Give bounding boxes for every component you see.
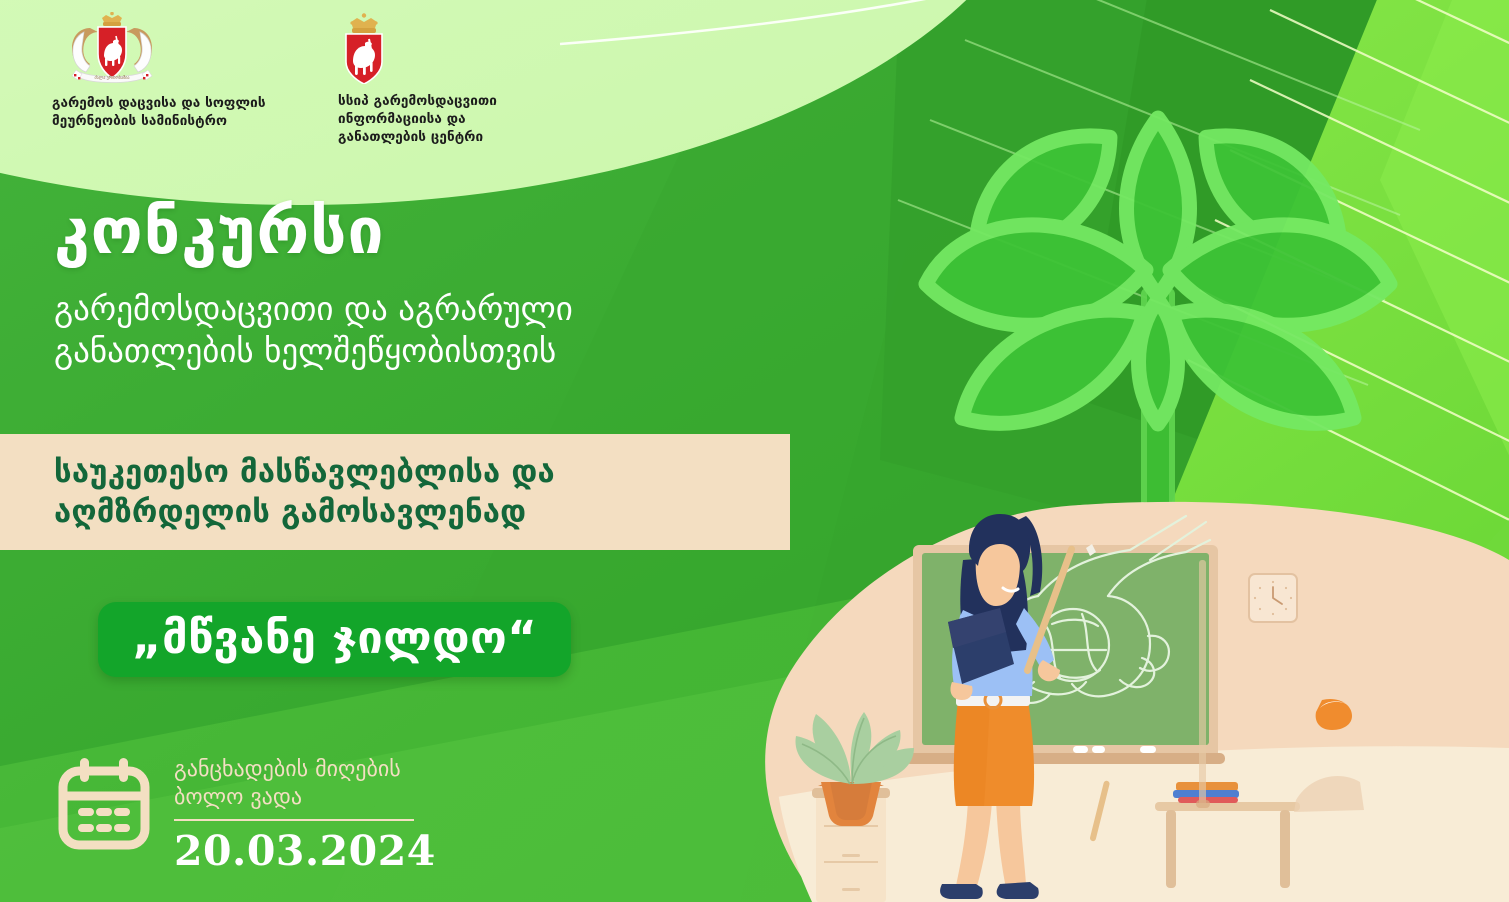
headline-block: კონკურსი გარემოსდაცვითი და აგრარული განა… — [54, 200, 573, 372]
award-name-text: „მწვანე ჯილდო“ — [132, 614, 537, 661]
calendar-icon — [56, 756, 152, 852]
page-subtitle: გარემოსდაცვითი და აგრარული განათლების ხე… — [54, 288, 573, 372]
poster-canvas: ძალა ერთობაშია გარემოს დაცვისა და სოფლის… — [0, 0, 1509, 902]
highlight-banner: საუკეთესო მასწავლებლისა და აღმზრდელის გა… — [0, 434, 790, 550]
deadline-text-block: განცხადების მიღების ბოლო ვადა 20.03.2024 — [174, 752, 436, 875]
svg-text:ძალა ერთობაშია: ძალა ერთობაშია — [94, 75, 129, 80]
center-logo-block: სსიპ გარემოსდაცვითი ინფორმაციისა და განა… — [338, 12, 598, 147]
highlight-banner-text: საუკეთესო მასწავლებლისა და აღმზრდელის გა… — [0, 452, 555, 533]
deadline-label: განცხადების მიღების ბოლო ვადა — [174, 756, 434, 811]
wall-clock — [1249, 574, 1297, 622]
header-logos: ძალა ერთობაშია გარემოს დაცვისა და სოფლის… — [0, 0, 700, 150]
georgia-small-coat-of-arms-icon — [338, 12, 390, 84]
deadline-divider — [174, 819, 414, 821]
page-title: კონკურსი — [54, 200, 573, 264]
ministry-logo-text: გარემოს დაცვისა და სოფლის მეურნეობის სამ… — [52, 94, 342, 130]
center-logo-text: სსიპ გარემოსდაცვითი ინფორმაციისა და განა… — [338, 92, 598, 147]
deadline-block: განცხადების მიღების ბოლო ვადა 20.03.2024 — [56, 752, 436, 875]
deadline-date: 20.03.2024 — [174, 827, 436, 875]
award-name-pill: „მწვანე ჯილდო“ — [98, 602, 571, 677]
ministry-logo-block: ძალა ერთობაშია გარემოს დაცვისა და სოფლის… — [52, 12, 342, 130]
georgia-coat-of-arms-icon: ძალა ერთობაშია — [60, 12, 164, 86]
